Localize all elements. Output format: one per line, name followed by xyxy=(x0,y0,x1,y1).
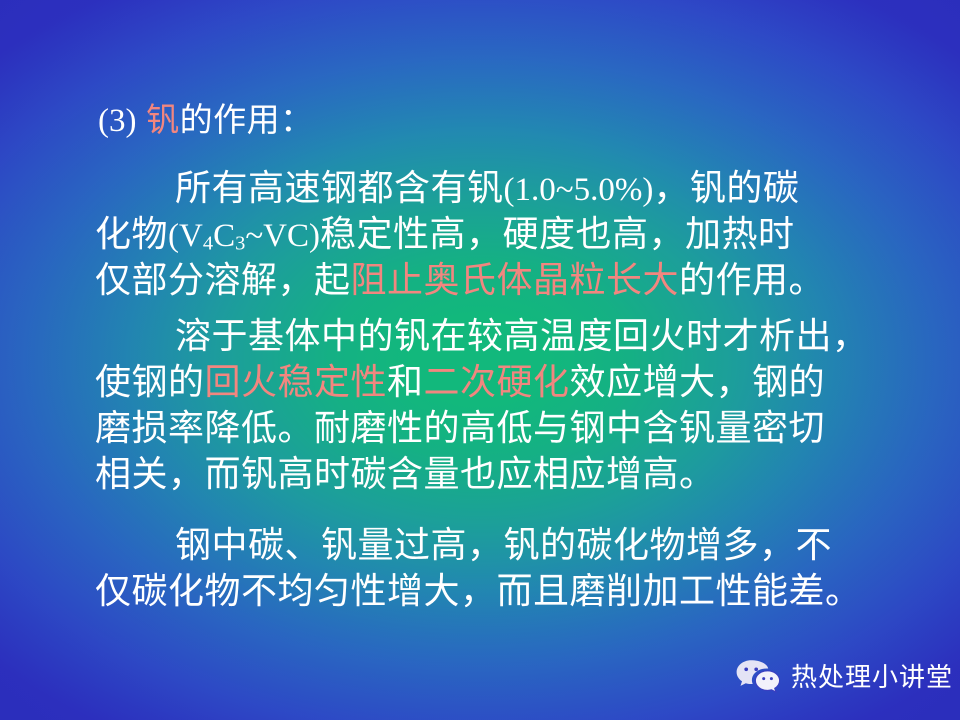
heading-spacer xyxy=(136,101,146,138)
text-segment: 使钢的 xyxy=(95,361,205,402)
paragraph-1-line-2: 化物(V4C3~VC)稳定性高，硬度也高，加热时 xyxy=(95,216,795,254)
formula-vc: VC xyxy=(263,218,309,254)
text-segment: 所有高速钢都含有钒 xyxy=(175,167,504,208)
text-segment: 效应增大，钢的 xyxy=(570,361,826,402)
paragraph-2-line-3: 磨损率降低。耐磨性的高低与钢中含钒量密切 xyxy=(95,410,825,446)
text-segment: 稳定性高，硬度也高，加热时 xyxy=(320,213,795,254)
paragraph-2-line-4: 相关，而钒高时碳含量也应相应增高。 xyxy=(95,456,716,492)
watermark: 热处理小讲堂 xyxy=(735,658,953,696)
heading-keyword: 钒 xyxy=(146,101,180,138)
paragraph-1-line-3: 仅部分溶解，起阻止奥氏体晶粒长大的作用。 xyxy=(95,262,825,298)
text-segment: 钢中碳、钒量过高，钒的碳化物增多，不 xyxy=(175,524,832,565)
formula-sub-4: 4 xyxy=(203,233,213,255)
text-segment: 仅碳化物不均匀性增大，而且磨削加工性能差。 xyxy=(95,570,862,611)
formula-sub-3: 3 xyxy=(235,233,245,255)
slide-heading: (3) 钒的作用： xyxy=(98,103,314,138)
heading-number: (3) xyxy=(98,103,136,139)
text-segment-latin: (1.0~5.0%) xyxy=(504,172,654,208)
watermark-label: 热处理小讲堂 xyxy=(791,664,953,690)
paragraph-2-line-2: 使钢的回火稳定性和二次硬化效应增大，钢的 xyxy=(95,364,825,400)
formula-tilde: ~ xyxy=(245,218,263,254)
highlighted-term-temper-resistance: 回火稳定性 xyxy=(205,361,388,402)
presentation-slide: (3) 钒的作用： 所有高速钢都含有钒(1.0~5.0%)，钒的碳 化物(V4C… xyxy=(0,0,960,720)
text-segment: 和 xyxy=(387,361,424,402)
paragraph-2-line-1: 溶于基体中的钒在较高温度回火时才析出， xyxy=(175,318,869,354)
paragraph-1-line-1: 所有高速钢都含有钒(1.0~5.0%)，钒的碳 xyxy=(175,170,799,207)
slide-content: (3) 钒的作用： 所有高速钢都含有钒(1.0~5.0%)，钒的碳 化物(V4C… xyxy=(0,0,960,720)
highlighted-term-grain-growth: 阻止奥氏体晶粒长大 xyxy=(351,259,680,300)
text-segment: 化物 xyxy=(95,213,168,254)
wechat-icon xyxy=(735,658,781,696)
text-segment: 溶于基体中的钒在较高温度回火时才析出， xyxy=(175,315,869,356)
paragraph-3-line-2: 仅碳化物不均匀性增大，而且磨削加工性能差。 xyxy=(95,573,862,609)
paragraph-3-line-1: 钢中碳、钒量过高，钒的碳化物增多，不 xyxy=(175,527,832,563)
text-segment: ，钒的碳 xyxy=(653,167,799,208)
highlighted-term-secondary-hardening: 二次硬化 xyxy=(424,361,570,402)
text-segment: 的作用。 xyxy=(679,259,825,300)
heading-rest: 的作用： xyxy=(180,101,314,138)
text-segment: 磨损率降低。耐磨性的高低与钢中含钒量密切 xyxy=(95,407,825,448)
formula-c: C xyxy=(213,218,235,254)
chemical-formula: (V4C3~VC) xyxy=(168,218,320,254)
text-segment: 相关，而钒高时碳含量也应相应增高。 xyxy=(95,453,716,494)
text-segment: 仅部分溶解，起 xyxy=(95,259,351,300)
formula-v: V xyxy=(179,218,203,254)
